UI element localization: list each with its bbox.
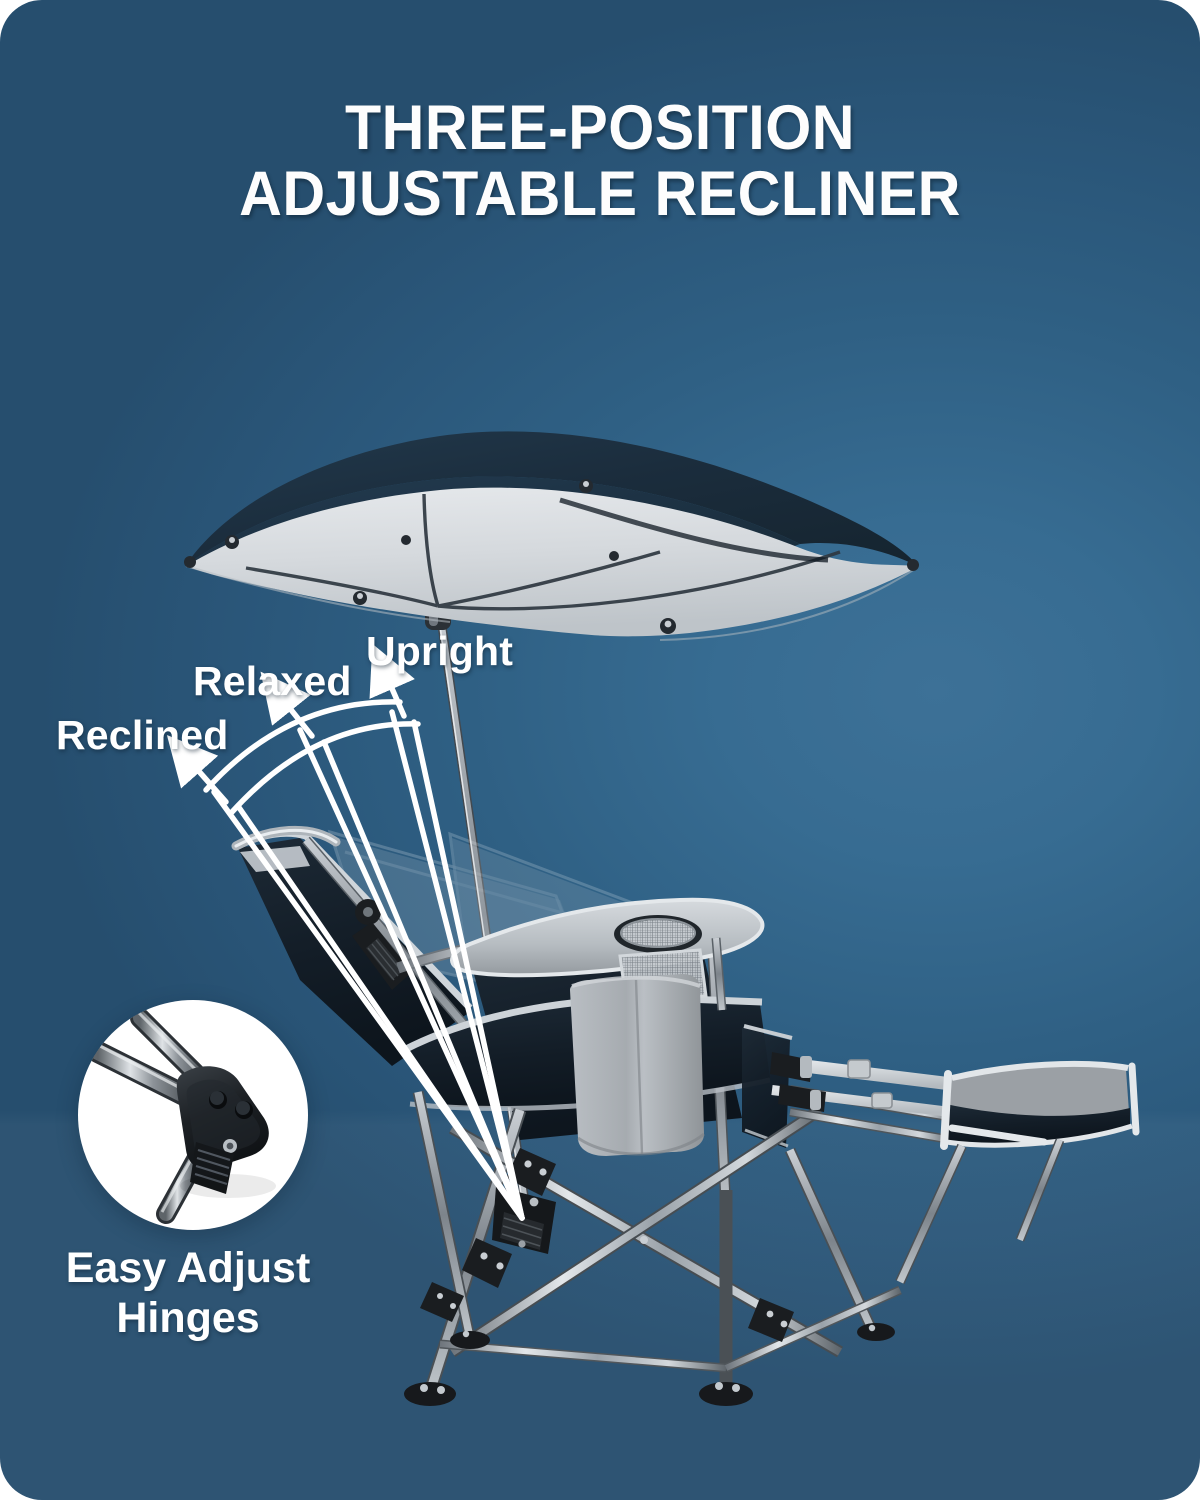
fan-spoke-upright xyxy=(392,712,522,1218)
caption-line-1: Easy Adjust xyxy=(8,1244,368,1294)
label-upright: Upright xyxy=(366,628,513,675)
sweep-arc-inner xyxy=(232,724,418,812)
headline-line-2: ADJUSTABLE RECLINER xyxy=(36,162,1164,228)
hinge-bracket-icon xyxy=(78,1000,308,1230)
caption-line-2: Hinges xyxy=(8,1294,368,1344)
product-infographic-poster: THREE-POSITION ADJUSTABLE RECLINER Recli… xyxy=(0,0,1200,1500)
sweep-arc-outer xyxy=(206,702,400,790)
easy-adjust-hinge-caption: Easy Adjust Hinges xyxy=(8,1244,368,1344)
easy-adjust-hinge-inset xyxy=(78,1000,308,1230)
headline-line-1: THREE-POSITION xyxy=(36,96,1164,162)
label-relaxed: Relaxed xyxy=(193,658,352,705)
label-reclined: Reclined xyxy=(56,712,229,759)
page-title: THREE-POSITION ADJUSTABLE RECLINER xyxy=(36,96,1164,227)
fan-spoke-relaxed xyxy=(300,730,522,1218)
